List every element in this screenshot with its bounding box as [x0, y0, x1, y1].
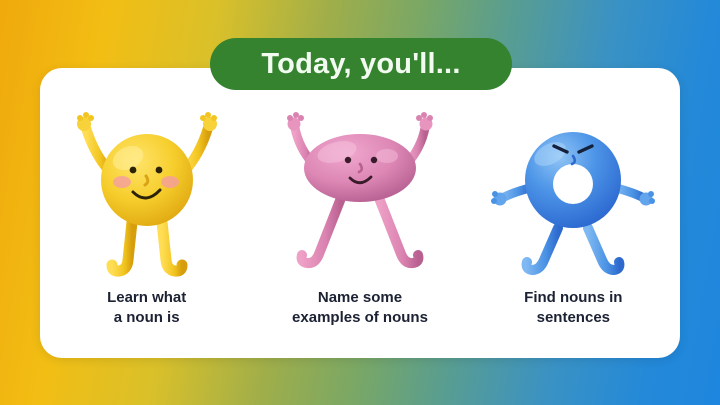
objective-item-1: Learn what a noun is [40, 68, 253, 358]
objectives-row: Learn what a noun is [40, 68, 680, 358]
objective-caption-1: Learn what a noun is [107, 288, 186, 329]
objective-item-3: Find nouns in sentences [467, 68, 680, 358]
pink-blob-character [275, 102, 445, 282]
yellow-ball-character-icon [62, 102, 232, 282]
yellow-ball-character [62, 102, 232, 282]
slide-canvas: Today, you'll... [0, 0, 720, 405]
objective-item-2: Name some examples of nouns [253, 68, 466, 358]
blue-donut-character-icon [488, 102, 658, 282]
objective-caption-2: Name some examples of nouns [292, 288, 428, 329]
blue-donut-character [488, 102, 658, 282]
title-banner: Today, you'll... [210, 38, 512, 90]
pink-blob-character-icon [275, 102, 445, 282]
objective-caption-3: Find nouns in sentences [524, 288, 622, 329]
page-title: Today, you'll... [261, 48, 460, 81]
